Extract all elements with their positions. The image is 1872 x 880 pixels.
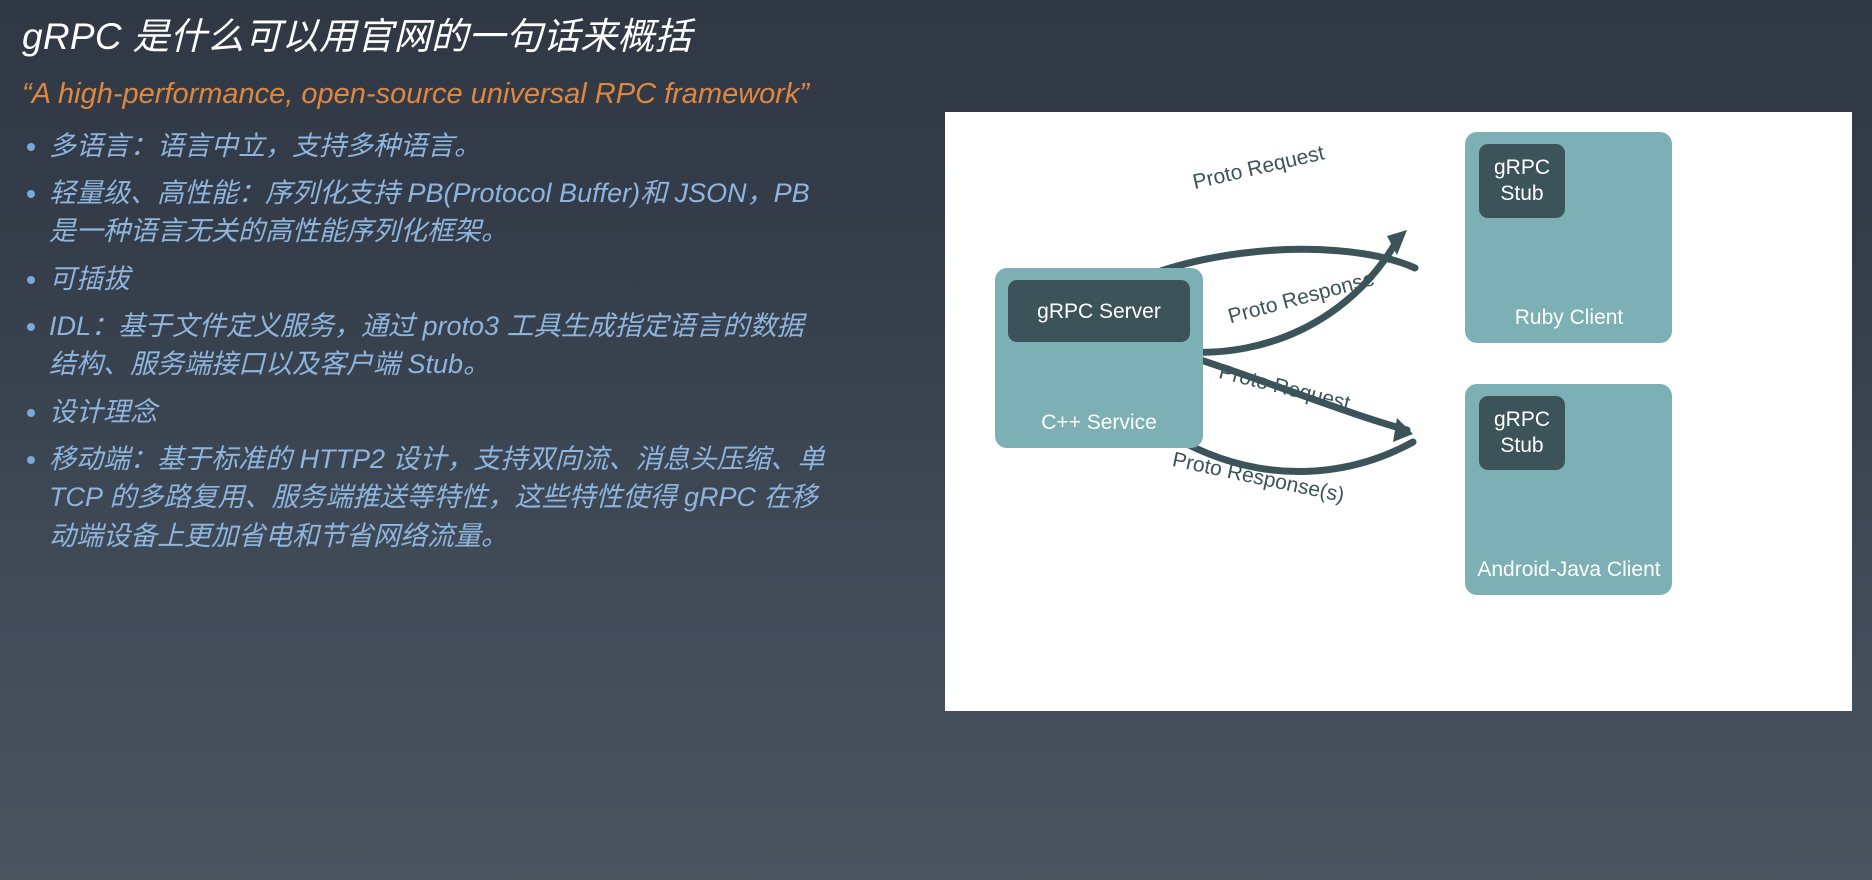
list-item: 轻量级、高性能：序列化支持 PB(Protocol Buffer)和 JSON，… [22,174,827,251]
node-outer-label: Android-Java Client [1477,558,1660,581]
quote-close-mark: ” [799,78,809,110]
quote-block: “A high-performance, open-source univers… [22,75,812,114]
slide-text-column: gRPC 是什么可以用官网的一句话来概括 “A high-performance… [0,0,948,880]
page-title: gRPC 是什么可以用官网的一句话来概括 [22,14,926,60]
list-item-label: 轻量级、高性能：序列化支持 PB(Protocol Buffer)和 JSON，… [49,178,810,246]
edge-label-ruby-request: Proto Request [1191,141,1327,194]
node-cpp-service[interactable]: gRPC Server C++ Service [995,268,1203,448]
node-inner-label-line2: Stub [1500,182,1543,205]
list-item: 多语言：语言中立，支持多种语言。 [22,127,827,165]
slide-root: gRPC 是什么可以用官网的一句话来概括 “A high-performance… [0,0,1872,880]
edge-label-android-request: Proto Request [1217,360,1353,415]
node-android-java-client[interactable]: gRPC Stub Android-Java Client [1465,384,1672,595]
list-item-label: 多语言：语言中立，支持多种语言。 [49,131,481,161]
list-item: 移动端：基于标准的 HTTP2 设计，支持双向流、消息头压缩、单 TCP 的多路… [22,440,827,555]
node-inner-label-line1: gRPC [1494,408,1550,431]
quote-open-mark: “ [22,78,32,110]
bullet-list: 多语言：语言中立，支持多种语言。 轻量级、高性能：序列化支持 PB(Protoc… [22,127,926,555]
node-inner-label-line1: gRPC [1494,156,1550,179]
list-item-label: IDL：基于文件定义服务，通过 proto3 工具生成指定语言的数据结构、服务端… [49,311,804,379]
bullet-dot-icon [27,409,35,417]
bullet-dot-icon [27,143,35,151]
bullet-dot-icon [27,276,35,284]
bullet-dot-icon [27,456,35,464]
grpc-architecture-diagram: gRPC Server C++ Service gRPC Stub Ruby C… [945,112,1852,711]
node-ruby-client[interactable]: gRPC Stub Ruby Client [1465,132,1672,343]
node-outer-label: Ruby Client [1515,306,1624,329]
bullet-dot-icon [27,323,35,331]
list-item-label: 可插拔 [49,264,130,294]
edge-label-android-response: Proto Response(s) [1170,448,1346,507]
bullet-dot-icon [27,190,35,198]
list-item: 设计理念 [22,393,827,431]
list-item: 可插拔 [22,260,827,298]
node-inner-label: gRPC Server [1037,300,1161,323]
node-inner-label-line2: Stub [1500,434,1543,457]
quote-text: A high-performance, open-source universa… [32,78,800,110]
list-item-label: 移动端：基于标准的 HTTP2 设计，支持双向流、消息头压缩、单 TCP 的多路… [49,444,825,551]
node-outer-label: C++ Service [1041,411,1157,434]
list-item: IDL：基于文件定义服务，通过 proto3 工具生成指定语言的数据结构、服务端… [22,307,827,384]
list-item-label: 设计理念 [49,397,157,427]
